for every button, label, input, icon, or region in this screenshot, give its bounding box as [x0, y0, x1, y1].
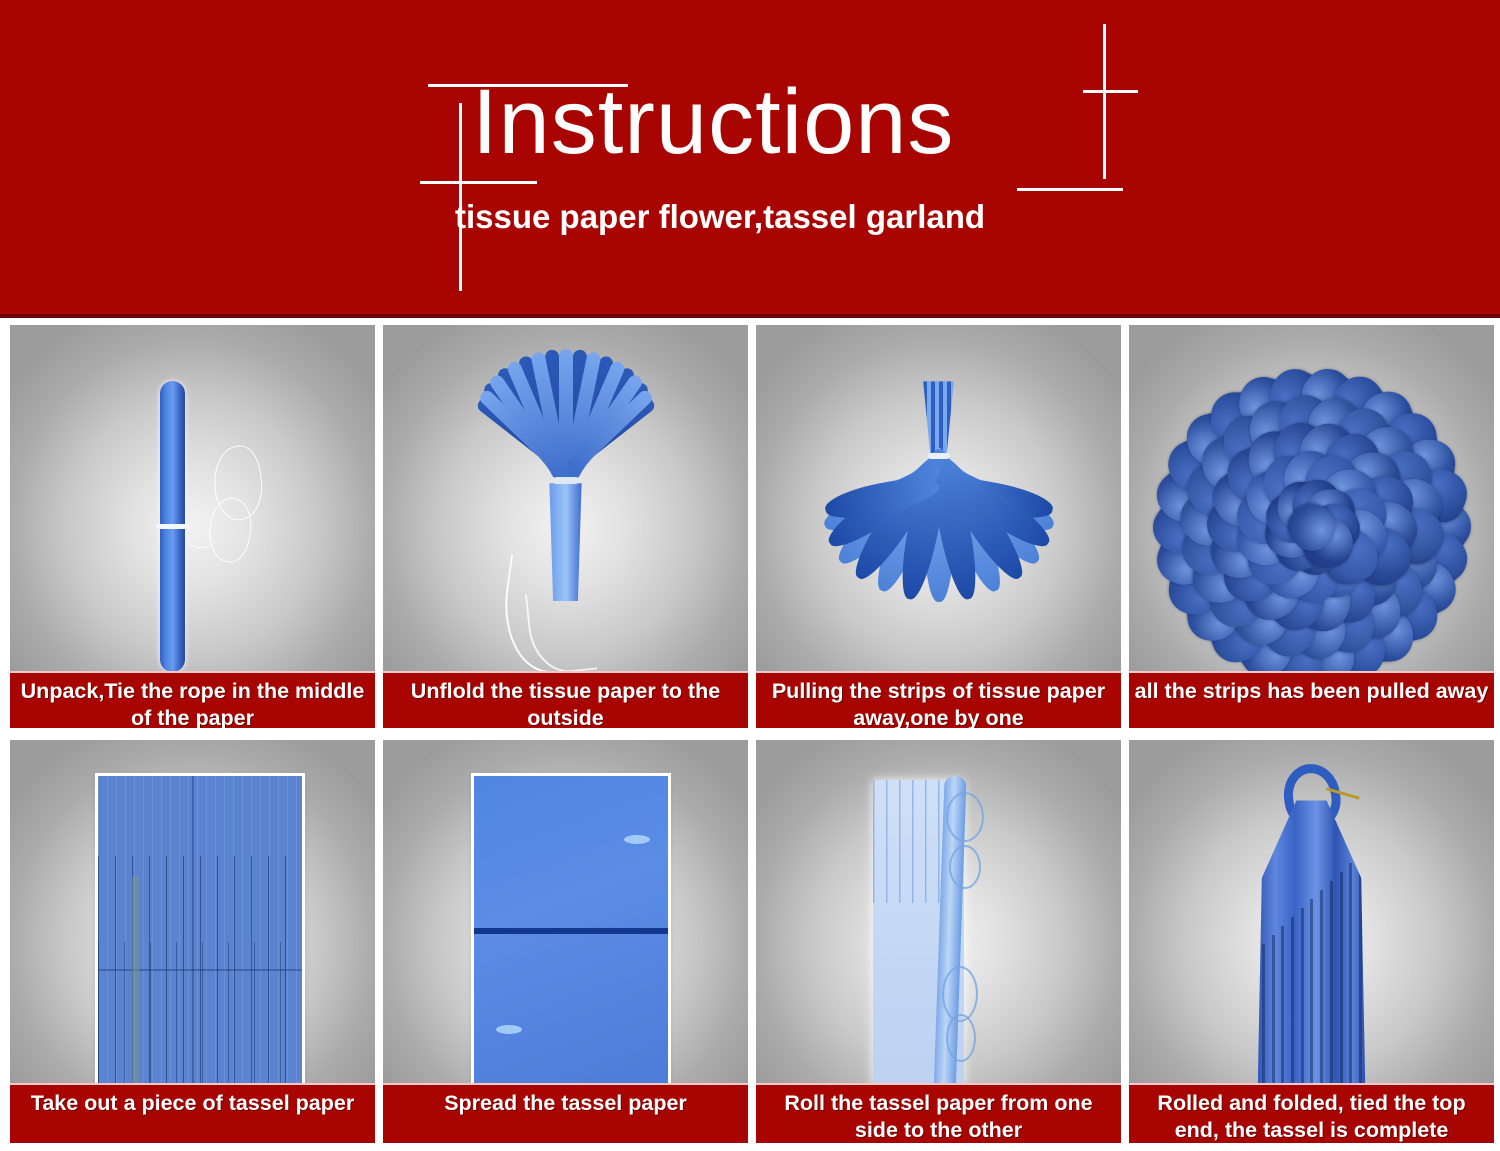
- paper-curl-4: [946, 1014, 976, 1062]
- tassel-strand: [1320, 890, 1323, 1099]
- step-photo-1: [10, 325, 375, 728]
- step-caption-7: Roll the tassel paper from one side to t…: [756, 1083, 1121, 1143]
- decor-line-bottom-right-horizontal: [1017, 188, 1123, 191]
- paper-highlight-1: [624, 835, 650, 844]
- step-photo-3: [756, 325, 1121, 728]
- paper-shadow-band: [132, 877, 139, 1082]
- vertical-fold-line: [192, 776, 194, 1082]
- tassel-strand: [1359, 854, 1362, 1099]
- step-cell-6: Spread the tassel paper: [383, 740, 748, 1143]
- step-caption-3: Pulling the strips of tissue paper away,…: [756, 671, 1121, 728]
- instruction-sheet: Instructions tissue paper flower,tassel …: [0, 0, 1500, 1151]
- step-cell-5: Take out a piece of tassel paper: [10, 740, 375, 1143]
- steps-grid: Unpack,Tie the rope in the middle of the…: [10, 325, 1494, 1151]
- tassel-strand: [1301, 908, 1304, 1099]
- step-cell-3: Pulling the strips of tissue paper away,…: [756, 325, 1121, 728]
- horizontal-crease: [98, 969, 302, 971]
- tassel-strand: [1272, 935, 1275, 1099]
- step-photo-2: [383, 325, 748, 728]
- step-photo-4: [1129, 325, 1494, 728]
- step-caption-6: Spread the tassel paper: [383, 1083, 748, 1143]
- tissue-center-knot: [928, 453, 950, 459]
- decor-line-right-vertical: [1103, 24, 1106, 179]
- header-banner: Instructions tissue paper flower,tassel …: [0, 0, 1500, 314]
- step-cell-4: all the strips has been pulled away: [1129, 325, 1494, 728]
- step-cell-1: Unpack,Tie the rope in the middle of the…: [10, 325, 375, 728]
- decor-line-right-crossbar: [1083, 90, 1138, 93]
- tassel-strand: [1340, 872, 1343, 1099]
- page-title: Instructions: [472, 76, 954, 168]
- paper-curl-2: [949, 845, 981, 889]
- folded-tissue-strip: [160, 381, 185, 671]
- decor-line-left-vertical: [459, 103, 462, 291]
- step-caption-4: all the strips has been pulled away: [1129, 671, 1494, 728]
- step-cell-8: Rolled and folded, tied the top end, the…: [1129, 740, 1494, 1143]
- tassel-strand: [1330, 881, 1333, 1099]
- paper-curl-1: [946, 792, 984, 842]
- decor-line-left-crossbar: [420, 181, 537, 184]
- rope-knot: [553, 477, 579, 484]
- tassel-body: [1258, 800, 1366, 1098]
- step-caption-1: Unpack,Tie the rope in the middle of the…: [10, 671, 375, 728]
- fringe-cuts-deep: [98, 942, 302, 1083]
- tassel-strand: [1291, 917, 1294, 1099]
- step-caption-8: Rolled and folded, tied the top end, the…: [1129, 1083, 1494, 1143]
- paper-highlight-2: [496, 1025, 522, 1034]
- page-subtitle: tissue paper flower,tassel garland: [455, 199, 985, 235]
- spread-tassel-paper: [474, 776, 667, 1086]
- step-caption-5: Take out a piece of tassel paper: [10, 1083, 375, 1143]
- header-bottom-edge: [0, 314, 1500, 318]
- tissue-umbrella: [793, 381, 1085, 671]
- center-fold-line: [474, 928, 667, 934]
- step-cell-7: Roll the tassel paper from one side to t…: [756, 740, 1121, 1143]
- tassel-paper-sheet: [98, 776, 302, 1082]
- tassel-strand: [1281, 926, 1284, 1099]
- pom-pom-flower: [1162, 377, 1462, 677]
- tassel-strand: [1349, 863, 1352, 1099]
- step-cell-2: Unflold the tissue paper to the outside: [383, 325, 748, 728]
- tassel-strand: [1262, 944, 1265, 1099]
- step-caption-2: Unflold the tissue paper to the outside: [383, 671, 748, 728]
- tassel-strand: [1310, 899, 1313, 1099]
